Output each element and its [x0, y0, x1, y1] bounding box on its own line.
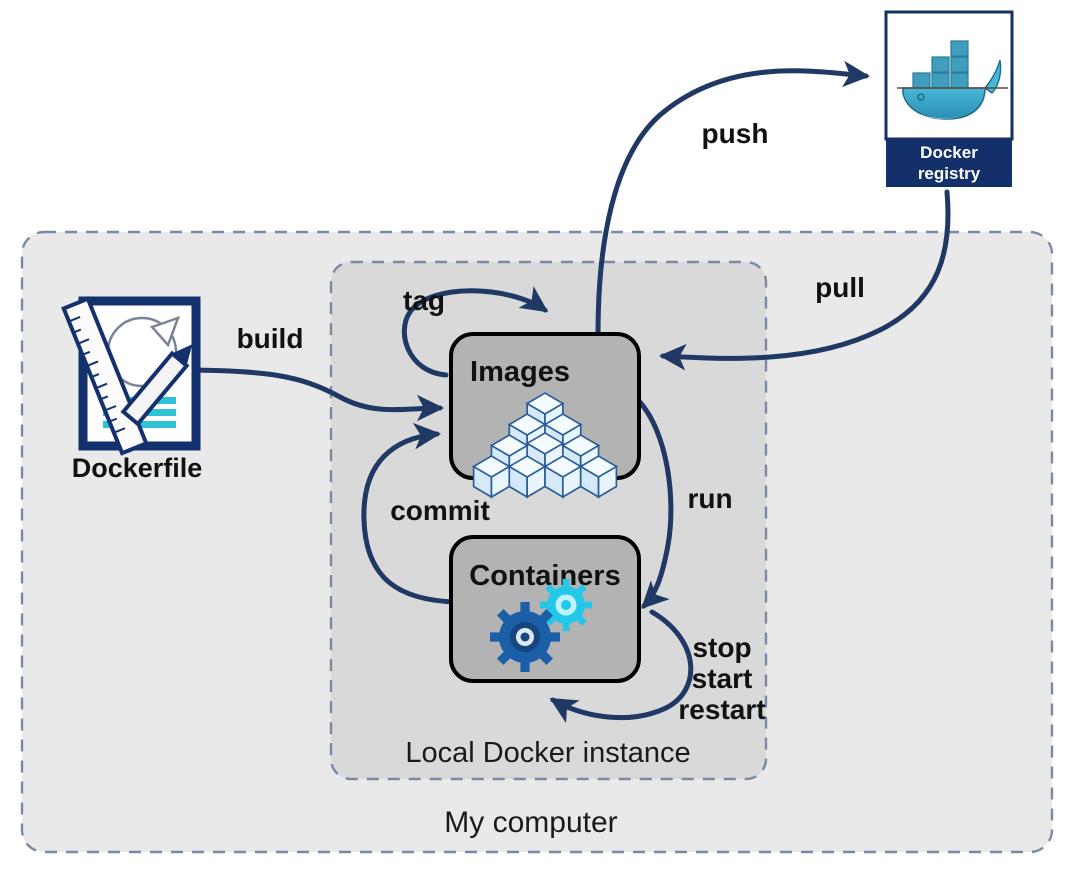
node-containers[interactable]: Containers: [451, 537, 639, 681]
registry-label-line1: Docker: [920, 143, 978, 162]
local-docker-instance-label: Local Docker instance: [405, 737, 690, 769]
registry-label-line2: registry: [918, 164, 981, 183]
docker-architecture-diagram: My computer Local Docker instance push p…: [0, 0, 1073, 880]
containers-label: Containers: [469, 560, 620, 592]
tag-label: tag: [403, 285, 445, 316]
dockerfile-label: Dockerfile: [72, 453, 203, 483]
build-label: build: [237, 323, 304, 354]
my-computer-label: My computer: [444, 806, 617, 839]
stop-label: stop: [692, 632, 751, 663]
node-docker-registry[interactable]: Docker registry: [886, 12, 1012, 187]
restart-label: restart: [678, 694, 765, 725]
start-label: start: [692, 663, 753, 694]
push-label: push: [702, 118, 769, 149]
node-dockerfile[interactable]: Dockerfile: [64, 299, 203, 483]
dockerfile-blueprint-icon: [64, 299, 200, 453]
diagram-canvas: My computer Local Docker instance push p…: [0, 0, 1073, 880]
run-label: run: [687, 483, 732, 514]
node-images[interactable]: Images: [451, 334, 639, 497]
commit-label: commit: [390, 495, 490, 526]
pull-label: pull: [815, 272, 865, 303]
images-label: Images: [470, 356, 570, 388]
